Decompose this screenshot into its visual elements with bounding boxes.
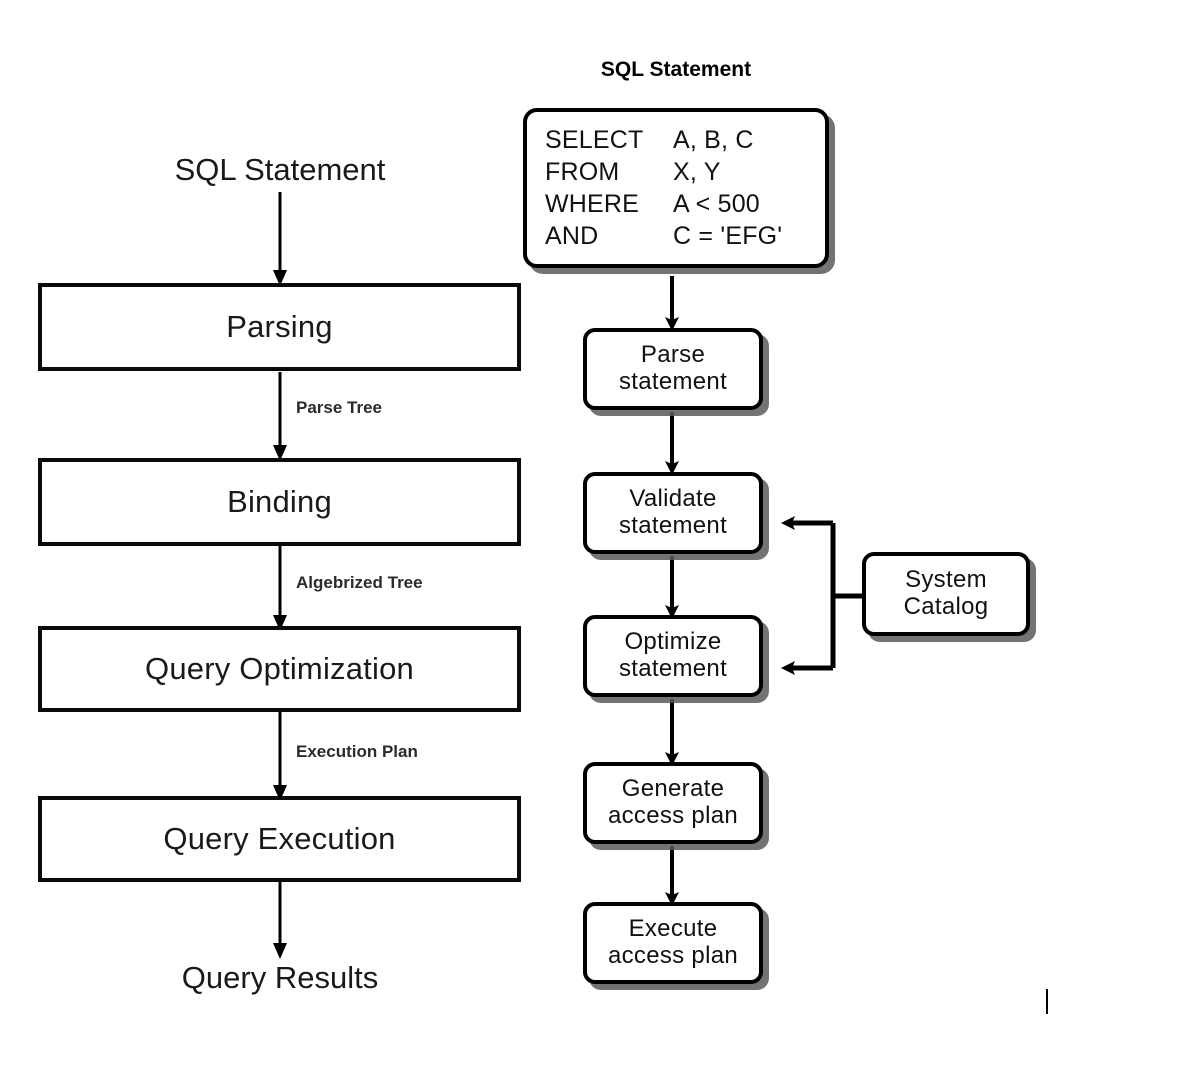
stage-label-query-optimization: Query Optimization: [145, 651, 414, 687]
step-node-parse-statement[interactable]: Parse statement: [583, 328, 763, 410]
sql-keyword: WHERE: [545, 188, 673, 220]
stage-label-parsing: Parsing: [226, 309, 333, 345]
sql-line: SELECT A, B, C: [545, 124, 809, 156]
edge-label-algebrized-tree-text: Algebrized Tree: [296, 573, 423, 592]
side-node-system-catalog[interactable]: System Catalog: [862, 552, 1030, 636]
stage-box-parsing[interactable]: Parsing: [38, 283, 521, 371]
edge-label-parse-tree: Parse Tree: [296, 398, 382, 418]
left-source-label: SQL Statement: [80, 152, 480, 188]
step-label-line1: Parse: [641, 342, 705, 369]
diagram-canvas: SQL Statement Parsing Parse Tree Binding…: [0, 0, 1196, 1079]
sql-value: C = 'EFG': [673, 220, 782, 252]
stage-label-binding: Binding: [227, 484, 332, 520]
side-node-label-line1: System: [905, 567, 987, 594]
step-label-line2: statement: [619, 369, 727, 396]
edge-label-algebrized-tree: Algebrized Tree: [296, 573, 423, 593]
sql-line: WHERE A < 500: [545, 188, 809, 220]
step-label-line2: statement: [619, 656, 727, 683]
sql-keyword: AND: [545, 220, 673, 252]
step-label-line2: access plan: [608, 803, 738, 830]
stage-box-query-execution[interactable]: Query Execution: [38, 796, 521, 882]
step-label-line2: statement: [619, 513, 727, 540]
step-node-execute-access-plan[interactable]: Execute access plan: [583, 902, 763, 984]
edge-label-execution-plan-text: Execution Plan: [296, 742, 418, 761]
step-node-generate-access-plan[interactable]: Generate access plan: [583, 762, 763, 844]
step-node-optimize-statement[interactable]: Optimize statement: [583, 615, 763, 697]
step-node-validate-statement[interactable]: Validate statement: [583, 472, 763, 554]
step-label-line1: Generate: [622, 776, 724, 803]
stage-label-query-execution: Query Execution: [163, 821, 395, 857]
stray-tick-mark: [1046, 989, 1048, 1014]
side-node-label-line2: Catalog: [904, 594, 989, 621]
left-result-text: Query Results: [182, 960, 378, 995]
right-heading-text: SQL Statement: [601, 58, 751, 81]
edge-label-execution-plan: Execution Plan: [296, 742, 418, 762]
edge-label-parse-tree-text: Parse Tree: [296, 398, 382, 417]
sql-statement-box[interactable]: SELECT A, B, C FROM X, Y WHERE A < 500 A…: [523, 108, 829, 268]
sql-keyword: FROM: [545, 156, 673, 188]
sql-value: A < 500: [673, 188, 760, 220]
sql-value: X, Y: [673, 156, 721, 188]
sql-line: AND C = 'EFG': [545, 220, 809, 252]
left-source-text: SQL Statement: [175, 152, 386, 187]
stage-box-binding[interactable]: Binding: [38, 458, 521, 546]
step-label-line1: Validate: [629, 486, 716, 513]
sql-value: A, B, C: [673, 124, 754, 156]
sql-line: FROM X, Y: [545, 156, 809, 188]
step-label-line2: access plan: [608, 943, 738, 970]
step-label-line1: Execute: [629, 916, 718, 943]
stage-box-query-optimization[interactable]: Query Optimization: [38, 626, 521, 712]
left-result-label: Query Results: [80, 960, 480, 996]
step-label-line1: Optimize: [624, 629, 721, 656]
sql-keyword: SELECT: [545, 124, 673, 156]
system-catalog-bracket: [790, 523, 866, 668]
right-pipeline-heading: SQL Statement: [523, 58, 829, 82]
